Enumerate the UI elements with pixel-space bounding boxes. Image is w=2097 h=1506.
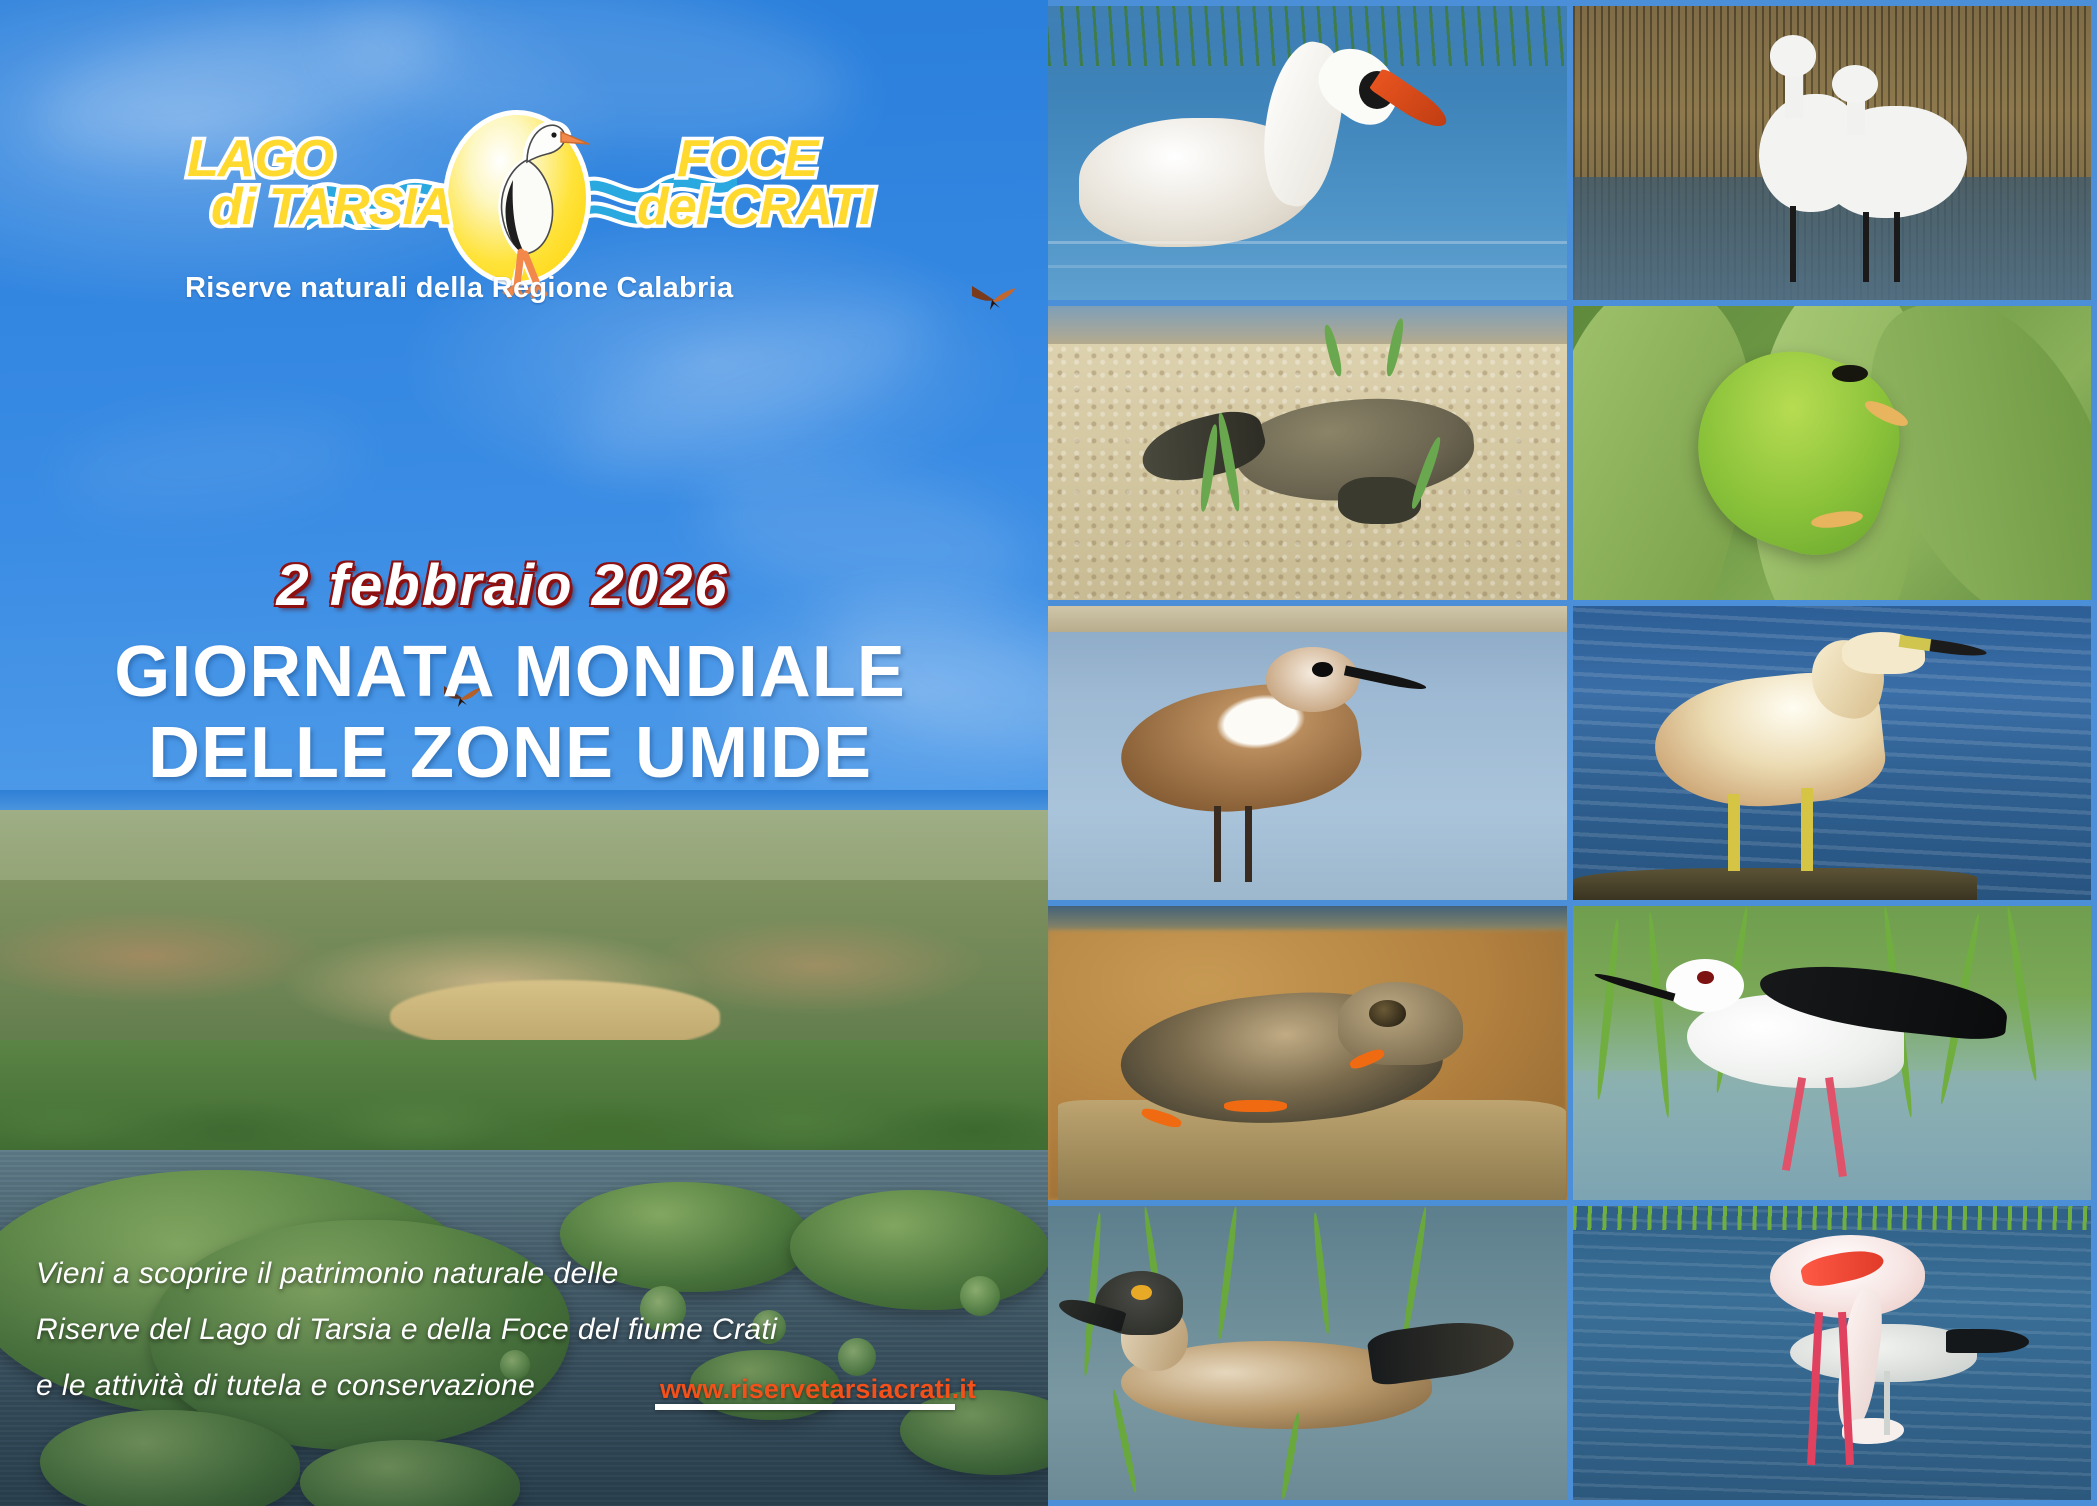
headline-line-2: DELLE ZONE UMIDE	[0, 713, 1020, 794]
cloud-wisp	[56, 405, 364, 526]
promo-line-1: Vieni a scoprire il patrimonio naturale …	[36, 1246, 756, 1302]
egret-head-front	[1832, 65, 1879, 103]
logo-word-tarsia: di TARSIA	[211, 184, 452, 232]
grass-blade	[2005, 906, 2041, 1082]
toad-orange-marking	[1224, 1100, 1286, 1112]
egret-leg	[1863, 212, 1869, 283]
wildlife-photo-grid	[1048, 0, 2097, 1506]
toad-head	[1338, 982, 1462, 1064]
gull-tail	[1946, 1329, 2029, 1353]
logo-word-lago: LAGO	[187, 136, 333, 184]
toad-eye	[1369, 1000, 1405, 1026]
photo-egrets	[1573, 6, 2092, 300]
logo-subtitle: Riserve naturali della Regione Calabria	[185, 272, 835, 305]
website-link[interactable]: www.riservetarsiacrati.it	[660, 1374, 976, 1405]
photo-squacco	[1573, 606, 2092, 900]
reed-grass	[1573, 1206, 2092, 1230]
grass-blade	[1110, 1389, 1139, 1494]
sandpiper-leg	[1214, 806, 1221, 882]
water-ripple	[1048, 265, 1567, 268]
pebble-shore	[1048, 606, 1567, 632]
stilt-eye	[1697, 971, 1714, 984]
sandpiper-eye	[1312, 662, 1333, 677]
sandpiper-head	[1266, 647, 1359, 712]
photo-sandpiper	[1048, 606, 1567, 900]
promo-text: Vieni a scoprire il patrimonio naturale …	[36, 1246, 756, 1413]
grass-blade	[1311, 1212, 1331, 1336]
turtle-leg	[1338, 477, 1421, 524]
photo-toad	[1048, 906, 1567, 1200]
sandpiper-leg	[1245, 806, 1252, 882]
water-ripple	[1048, 241, 1567, 244]
heron-leg	[1728, 794, 1740, 870]
photo-stilt	[1573, 906, 2092, 1200]
egret-leg	[1790, 206, 1796, 282]
logo-word-crati: del CRATI	[637, 184, 873, 232]
grass-blade	[1216, 1206, 1240, 1341]
website-underline	[655, 1404, 955, 1410]
duck-eye	[1131, 1285, 1152, 1300]
photo-flamingo	[1573, 1206, 2092, 1500]
poster-canvas: LAGO di TARSIA FOCE del CRATI Riserve na…	[0, 0, 2097, 1506]
duck-tail	[1366, 1314, 1517, 1387]
photo-turtle	[1048, 306, 1567, 600]
swallow-icon	[970, 282, 1018, 317]
landscape-shrub	[960, 1276, 1000, 1316]
promo-line-2: Riserve del Lago di Tarsia e della Foce …	[36, 1302, 756, 1358]
promo-line-3: e le attività di tutela e conservazione	[36, 1358, 756, 1414]
photo-duck	[1048, 1206, 1567, 1500]
landscape-shrub	[838, 1338, 876, 1376]
floating-log	[1573, 868, 1977, 900]
event-date: 2 febbraio 2026	[0, 552, 1005, 619]
logo-word-foce: FOCE	[677, 136, 817, 184]
stilt-head	[1666, 959, 1744, 1012]
left-panel: LAGO di TARSIA FOCE del CRATI Riserve na…	[0, 0, 1048, 1506]
gull-leg	[1884, 1371, 1890, 1436]
headline-line-1: GIORNATA MONDIALE	[0, 632, 1020, 713]
reserve-logo: LAGO di TARSIA FOCE del CRATI	[185, 108, 815, 278]
page-title: GIORNATA MONDIALE DELLE ZONE UMIDE	[0, 632, 1020, 793]
egret-leg	[1894, 212, 1900, 283]
photo-swan	[1048, 6, 1567, 300]
heron-leg	[1801, 788, 1813, 870]
photo-treefrog	[1573, 306, 2092, 600]
egret-head-back	[1770, 35, 1817, 76]
